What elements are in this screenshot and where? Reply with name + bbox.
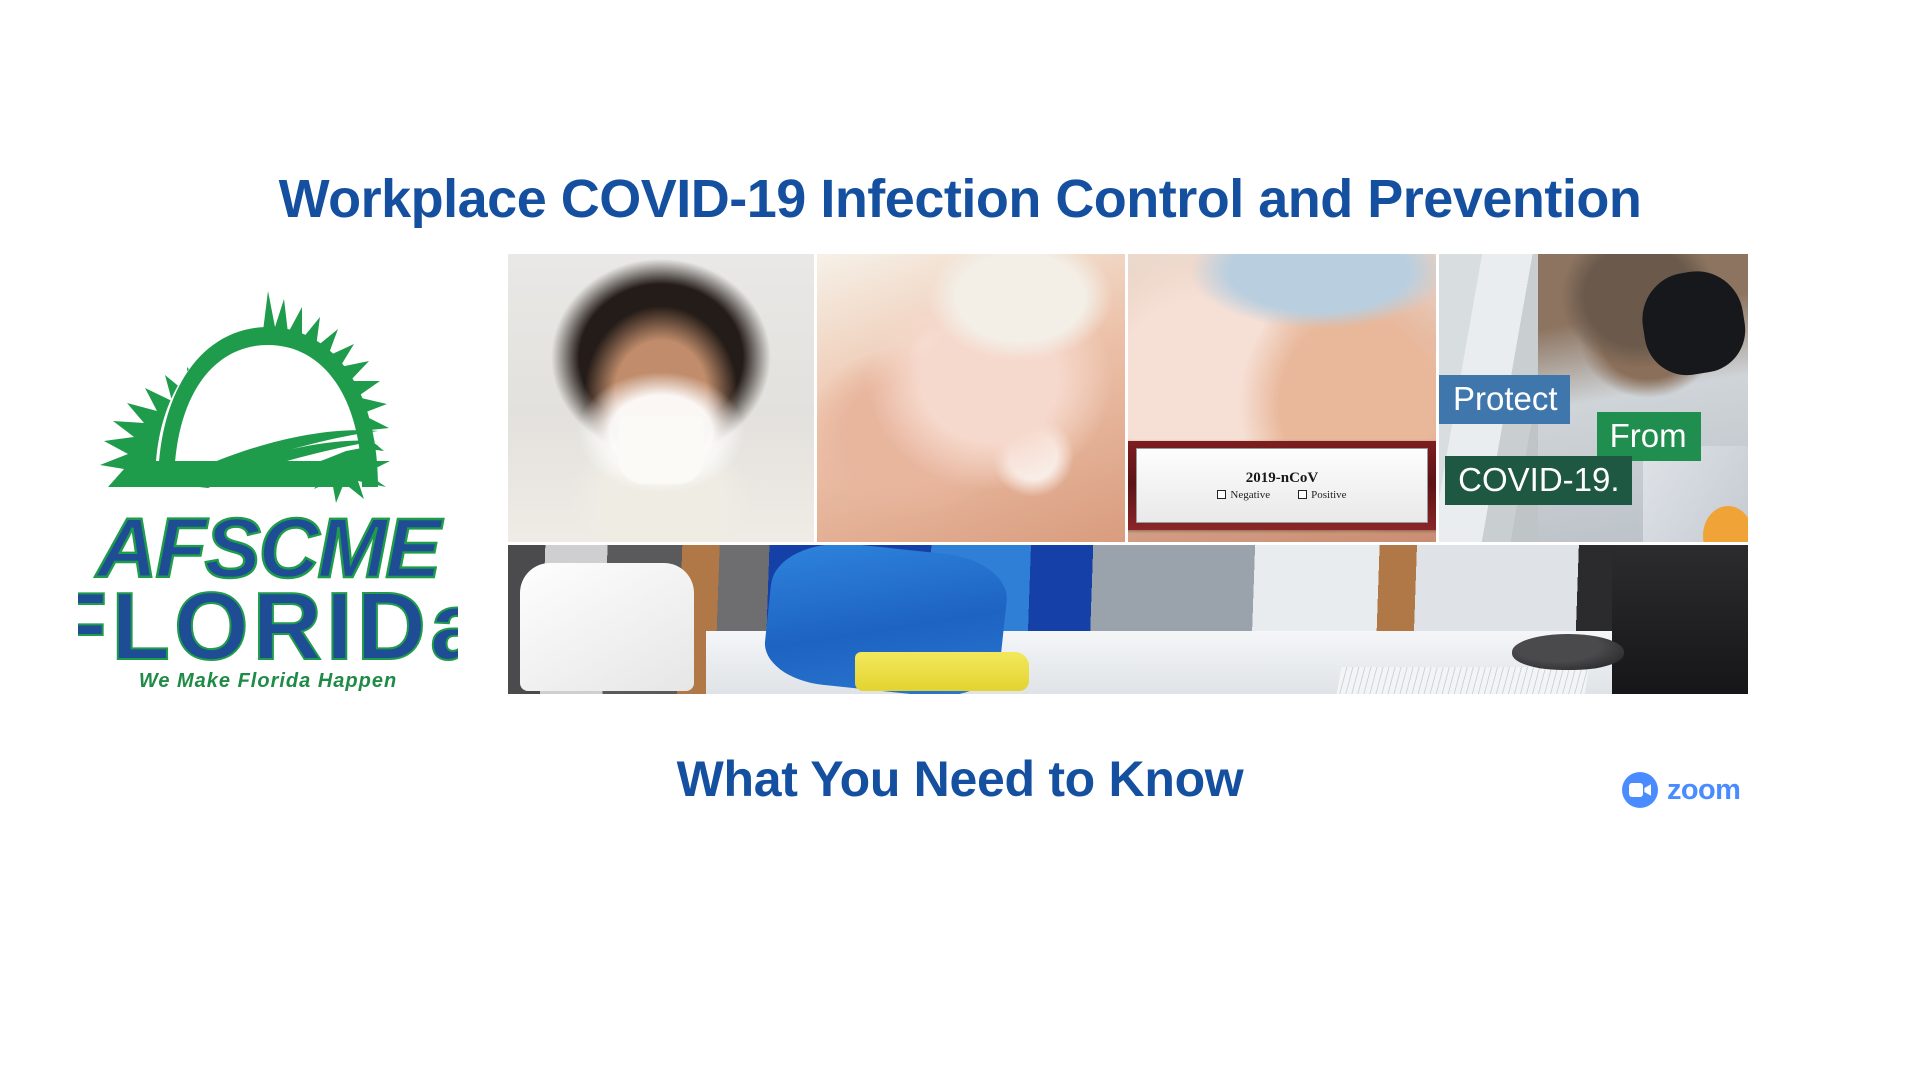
presentation-slide: Workplace COVID-19 Infection Control and… (0, 0, 1920, 1080)
zoom-logo: zoom (1622, 772, 1740, 808)
overlay-word-covid19: COVID-19. (1445, 456, 1631, 505)
photo-desk-disinfecting (508, 545, 1748, 694)
keyboard (1336, 667, 1589, 694)
photo-sneezing-woman (508, 254, 814, 542)
afscme-logo-graphic: AFSCME FLORIDa We Make Florida Happen (78, 255, 458, 695)
photo-masked-man: Protect From COVID-19. (1439, 254, 1748, 542)
photo-collage: 2019-nCoV Negative Positive (508, 254, 1748, 694)
yellow-cleaning-cloth (855, 652, 1029, 691)
test-tube-label: 2019-nCoV Negative Positive (1136, 448, 1429, 523)
test-tube-label-title: 2019-nCoV (1246, 471, 1319, 487)
collage-top-row: 2019-nCoV Negative Positive (508, 254, 1748, 542)
test-tube-options: Negative Positive (1217, 489, 1346, 501)
checkbox-icon (1298, 490, 1307, 499)
page-title: Workplace COVID-19 Infection Control and… (0, 168, 1920, 230)
computer-mouse (1512, 634, 1624, 670)
computer-monitor (1612, 545, 1748, 694)
video-camera-icon (1622, 772, 1658, 808)
zoom-wordmark: zoom (1667, 776, 1740, 805)
test-tube: 2019-nCoV Negative Positive (1128, 441, 1436, 530)
test-result-positive-label: Positive (1311, 489, 1346, 501)
video-camera-icon-glyph (1629, 783, 1651, 797)
test-result-negative-label: Negative (1230, 489, 1270, 501)
photo-handwashing-image (817, 254, 1125, 542)
test-result-negative: Negative (1217, 489, 1270, 501)
overlay-word-protect: Protect (1439, 375, 1570, 424)
photo-handwashing (817, 254, 1125, 542)
checkbox-icon (1217, 490, 1226, 499)
photo-sneezing-woman-image (508, 254, 814, 542)
logo-tagline: We Make Florida Happen (139, 670, 397, 692)
afscme-florida-logo: AFSCME FLORIDa We Make Florida Happen (78, 255, 458, 695)
logo-florida-text: FLORIDa (78, 573, 458, 680)
face-mask-icon (1636, 265, 1748, 381)
test-result-positive: Positive (1298, 489, 1346, 501)
overlay-word-from: From (1597, 412, 1701, 461)
office-chair (520, 563, 694, 691)
photo-covid-test-tube: 2019-nCoV Negative Positive (1128, 254, 1436, 542)
photo-desk-disinfecting-image (508, 545, 1748, 694)
